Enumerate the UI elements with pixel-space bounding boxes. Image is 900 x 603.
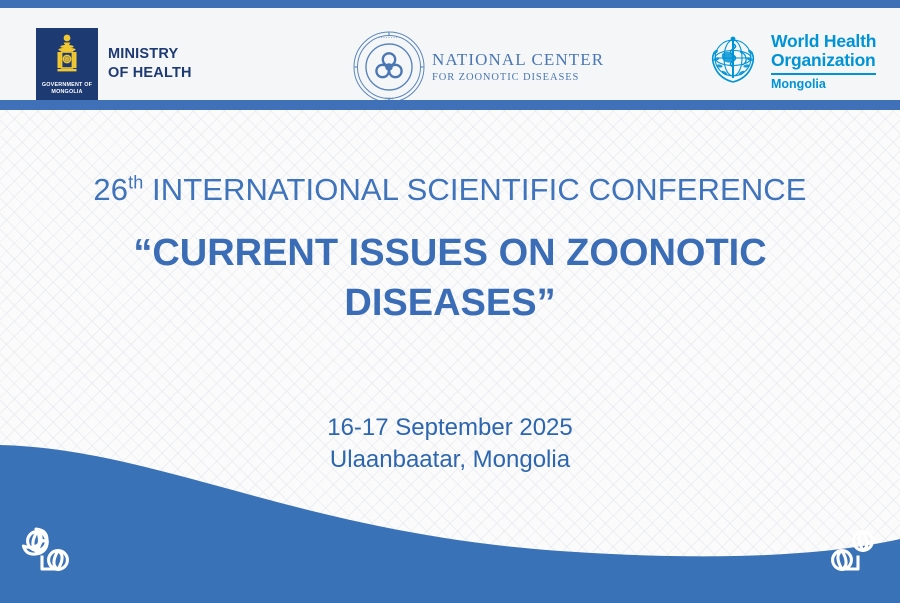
who-name-line-2: Organization bbox=[771, 51, 876, 70]
who-name-line-1: World Health bbox=[771, 32, 876, 51]
who-wordmark: World Health Organization Mongolia bbox=[771, 30, 876, 91]
mongolian-triquetra-knot-ornament-right-icon bbox=[804, 519, 882, 581]
national-center-zoonotic-diseases-logo: • • • • • • • • • 1951 NATIONAL CENTER F… bbox=[352, 30, 604, 104]
top-accent-rule bbox=[0, 0, 900, 8]
nczd-name-line-1: NATIONAL CENTER bbox=[432, 50, 604, 70]
badge-line-2: MONGOLIA bbox=[51, 89, 82, 95]
who-country-label: Mongolia bbox=[771, 77, 876, 91]
footer-wave-decoration bbox=[0, 423, 900, 603]
ministry-of-health-logo: GOVERNMENT OF MONGOLIA MINISTRY OF HEALT… bbox=[36, 28, 192, 100]
conference-heading: 26th INTERNATIONAL SCIENTIFIC CONFERENCE bbox=[0, 172, 900, 208]
who-mongolia-logo: World Health Organization Mongolia bbox=[702, 30, 876, 92]
ministry-label-line-2: OF HEALTH bbox=[108, 64, 192, 83]
conference-title-text: INTERNATIONAL SCIENTIFIC CONFERENCE bbox=[143, 172, 806, 207]
header-divider-rule bbox=[0, 100, 900, 110]
svg-text:• • • • • • • • •: • • • • • • • • • bbox=[378, 35, 400, 40]
conference-theme: “CURRENT ISSUES ON ZOONOTIC DISEASES” bbox=[0, 228, 900, 328]
zoonotic-trefoil-seal-icon: • • • • • • • • • 1951 bbox=[352, 30, 426, 104]
who-divider bbox=[771, 73, 876, 75]
badge-line-1: GOVERNMENT OF bbox=[42, 82, 92, 88]
logo-header-band: GOVERNMENT OF MONGOLIA MINISTRY OF HEALT… bbox=[0, 8, 900, 100]
national-center-name: NATIONAL CENTER FOR ZOONOTIC DISEASES bbox=[432, 50, 604, 84]
nczd-name-line-2: FOR ZOONOTIC DISEASES bbox=[432, 72, 604, 84]
ministry-of-health-label: MINISTRY OF HEALTH bbox=[108, 45, 192, 83]
theme-line-1: “CURRENT ISSUES ON ZOONOTIC bbox=[60, 228, 840, 278]
wave-primary bbox=[0, 445, 900, 603]
conference-title-slide: GOVERNMENT OF MONGOLIA MINISTRY OF HEALT… bbox=[0, 0, 900, 603]
theme-line-2: DISEASES” bbox=[60, 278, 840, 328]
government-badge-text: GOVERNMENT OF MONGOLIA bbox=[42, 82, 92, 96]
title-block: 26th INTERNATIONAL SCIENTIFIC CONFERENCE… bbox=[0, 172, 900, 328]
conference-number: 26 bbox=[93, 172, 128, 207]
who-globe-laurel-asclepius-emblem-icon bbox=[702, 30, 764, 92]
conference-ordinal-suffix: th bbox=[128, 173, 143, 193]
mongolian-triquetra-knot-ornament-left-icon bbox=[18, 519, 96, 581]
mongolia-soyombo-state-emblem-icon: GOVERNMENT OF MONGOLIA bbox=[36, 28, 98, 100]
ministry-label-line-1: MINISTRY bbox=[108, 45, 192, 64]
